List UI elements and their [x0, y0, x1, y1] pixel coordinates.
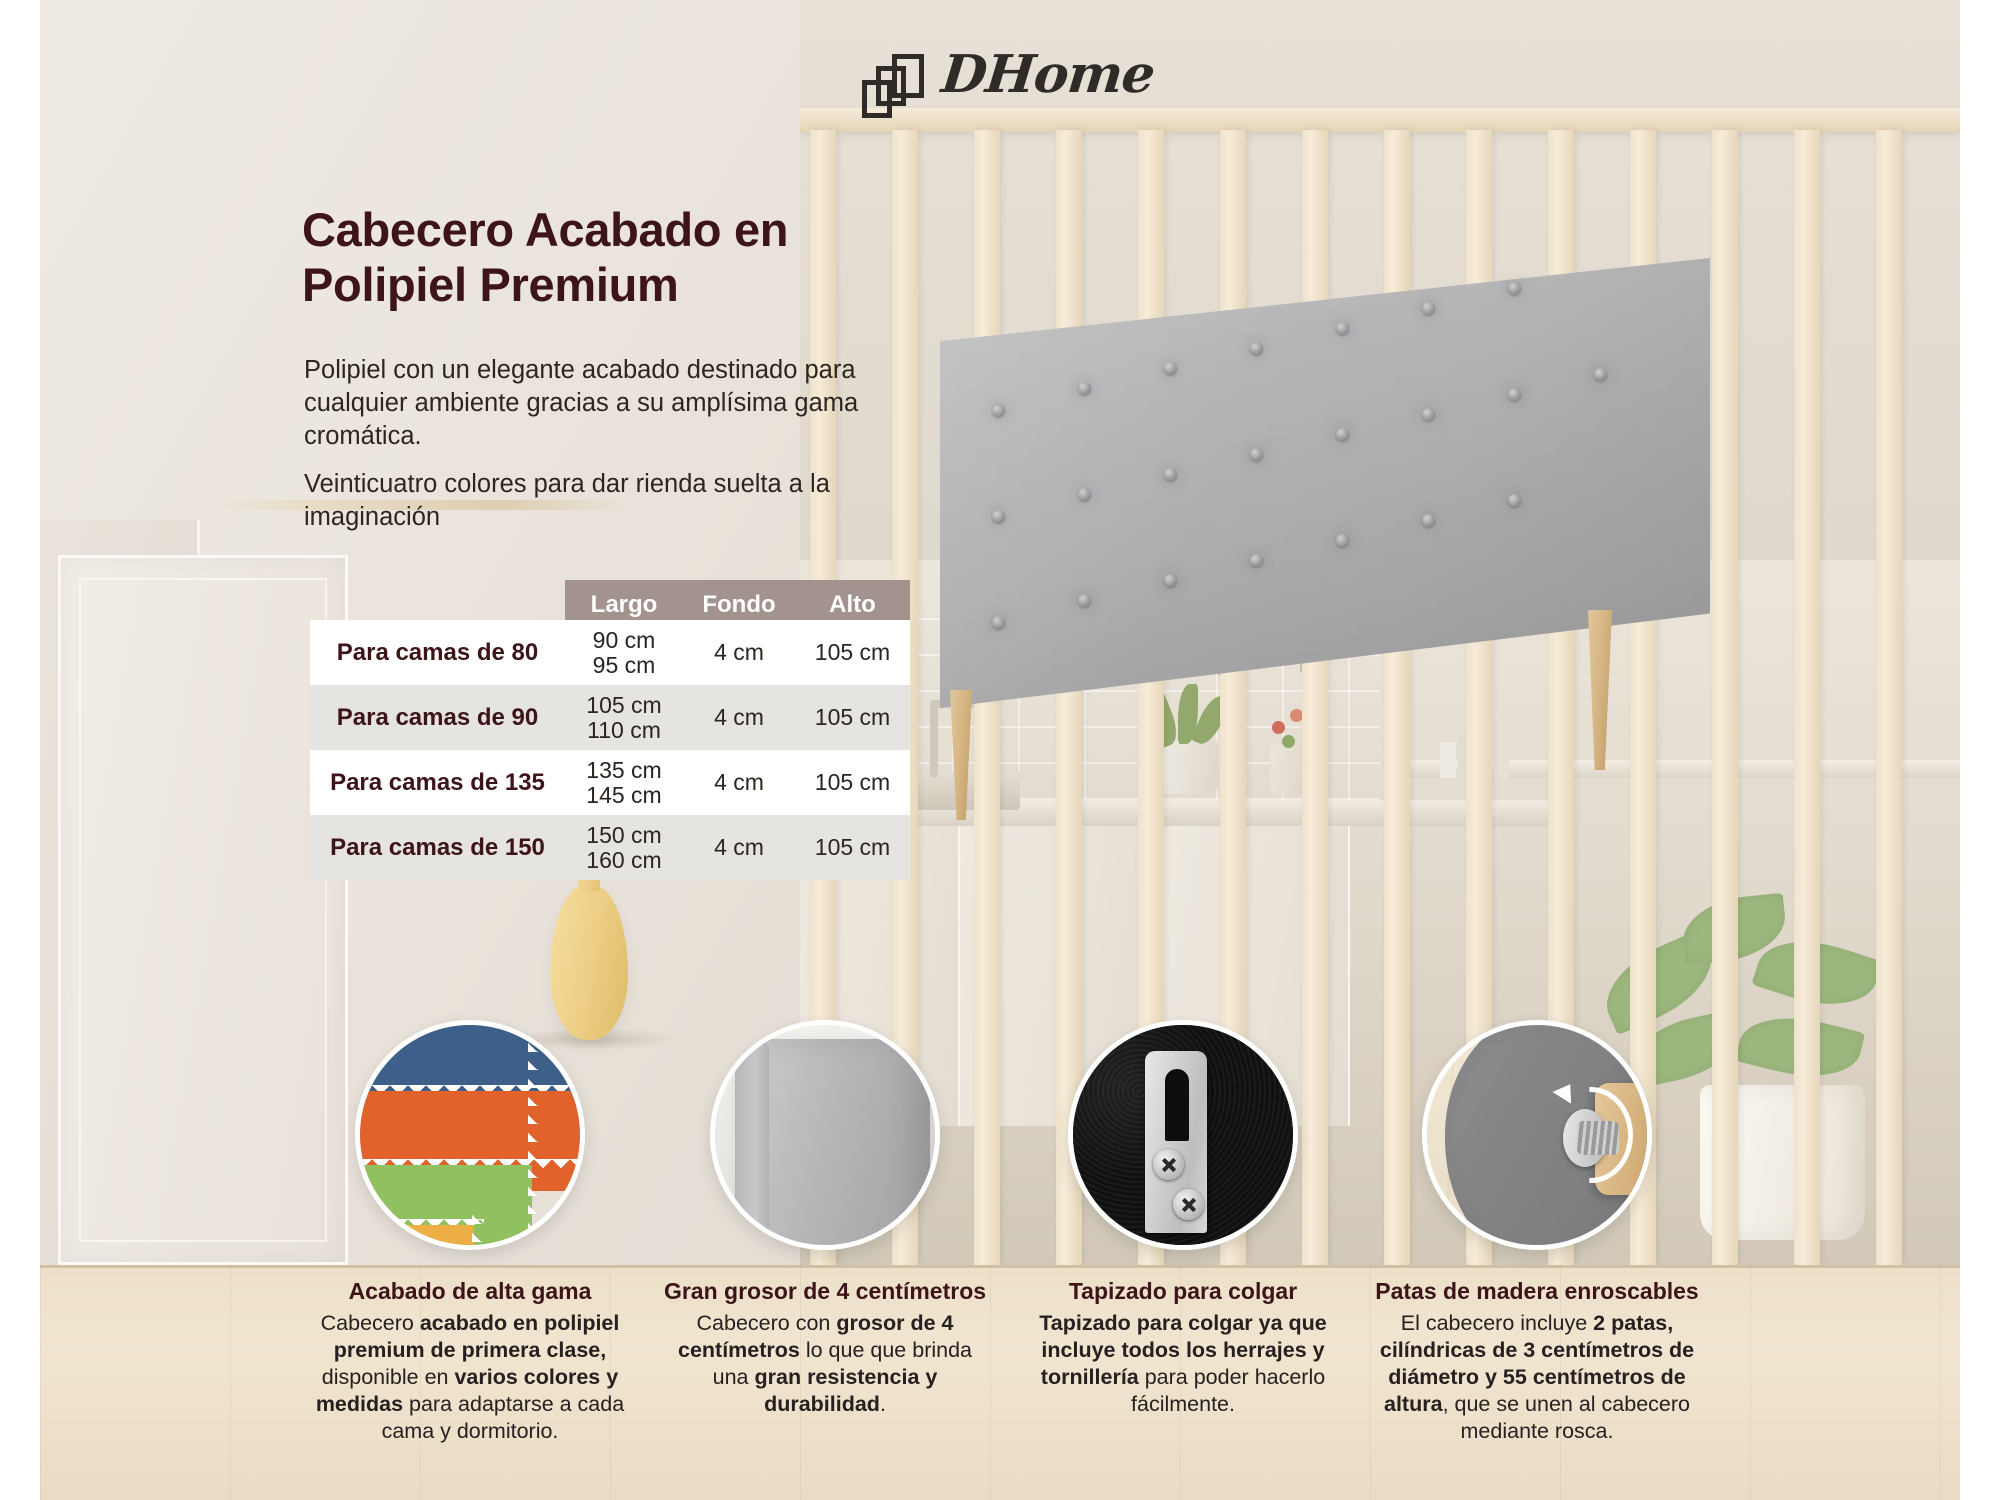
- feature-title: Patas de madera enroscables: [1372, 1278, 1702, 1305]
- cell-largo: 90 cm95 cm: [565, 628, 683, 677]
- cell-largo: 135 cm145 cm: [565, 758, 683, 807]
- phillips-screw-icon: [1173, 1189, 1204, 1220]
- headboard-thickness-icon: [710, 1020, 940, 1250]
- feature-title: Acabado de alta gama: [305, 1278, 635, 1305]
- description-paragraph-2: Veinticuatro colores para dar rienda sue…: [304, 468, 904, 534]
- row-label: Para camas de 80: [310, 639, 565, 667]
- column-header-fondo: Fondo: [683, 591, 795, 619]
- feature-body: Cabecero acabado en polipiel premium de …: [310, 1310, 630, 1444]
- row-label: Para camas de 150: [310, 834, 565, 862]
- feature-title: Gran grosor de 4 centímetros: [660, 1278, 990, 1305]
- phillips-screw-icon: [1153, 1149, 1184, 1180]
- screw-in-wooden-leg-icon: [1422, 1020, 1652, 1250]
- brand-name: DHome: [939, 44, 1157, 105]
- cell-alto: 105 cm: [795, 639, 910, 666]
- yellow-vase: [550, 885, 628, 1040]
- table-row: Para camas de 135 135 cm145 cm 4 cm 105 …: [310, 750, 910, 815]
- row-label: Para camas de 135: [310, 769, 565, 797]
- cell-fondo: 4 cm: [683, 834, 795, 861]
- infographic-canvas: DHome Cabecero Acabado en Polipiel Premi…: [0, 0, 2000, 1500]
- feature-body: El cabecero incluye 2 patas, cilíndricas…: [1377, 1310, 1697, 1444]
- cell-alto: 105 cm: [795, 834, 910, 861]
- feature-body: Tapizado para colgar ya que incluye todo…: [1023, 1310, 1343, 1418]
- letterbox-bar-left: [0, 0, 40, 1500]
- cell-largo: 150 cm160 cm: [565, 823, 683, 872]
- cell-fondo: 4 cm: [683, 639, 795, 666]
- table-row: Para camas de 80 90 cm95 cm 4 cm 105 cm: [310, 620, 910, 685]
- cell-fondo: 4 cm: [683, 769, 795, 796]
- column-header-largo: Largo: [565, 591, 683, 619]
- door-panel: [58, 555, 348, 1265]
- column-header-alto: Alto: [795, 591, 910, 619]
- table-row: Para camas de 150 150 cm160 cm 4 cm 105 …: [310, 815, 910, 880]
- wall-bracket-icon: [1068, 1020, 1298, 1250]
- description-paragraph-1: Polipiel con un elegante acabado destina…: [304, 354, 904, 453]
- feature-body: Cabecero con grosor de 4 centímetros lo …: [665, 1310, 985, 1418]
- cell-alto: 105 cm: [795, 704, 910, 731]
- page-title: Cabecero Acabado en Polipiel Premium: [302, 202, 922, 313]
- letterbox-bar-right: [1960, 0, 2000, 1500]
- cell-fondo: 4 cm: [683, 704, 795, 731]
- table-row: Para camas de 90 105 cm110 cm 4 cm 105 c…: [310, 685, 910, 750]
- cell-alto: 105 cm: [795, 769, 910, 796]
- floor-seam: [40, 1265, 1960, 1268]
- fabric-swatches-icon: [355, 1020, 585, 1250]
- row-label: Para camas de 90: [310, 704, 565, 732]
- cell-largo: 105 cm110 cm: [565, 693, 683, 742]
- overlapping-squares-icon: [862, 54, 934, 118]
- feature-title: Tapizado para colgar: [1018, 1278, 1348, 1305]
- headboard-product-image: [940, 258, 1710, 708]
- brand-logo: DHome: [862, 46, 1152, 124]
